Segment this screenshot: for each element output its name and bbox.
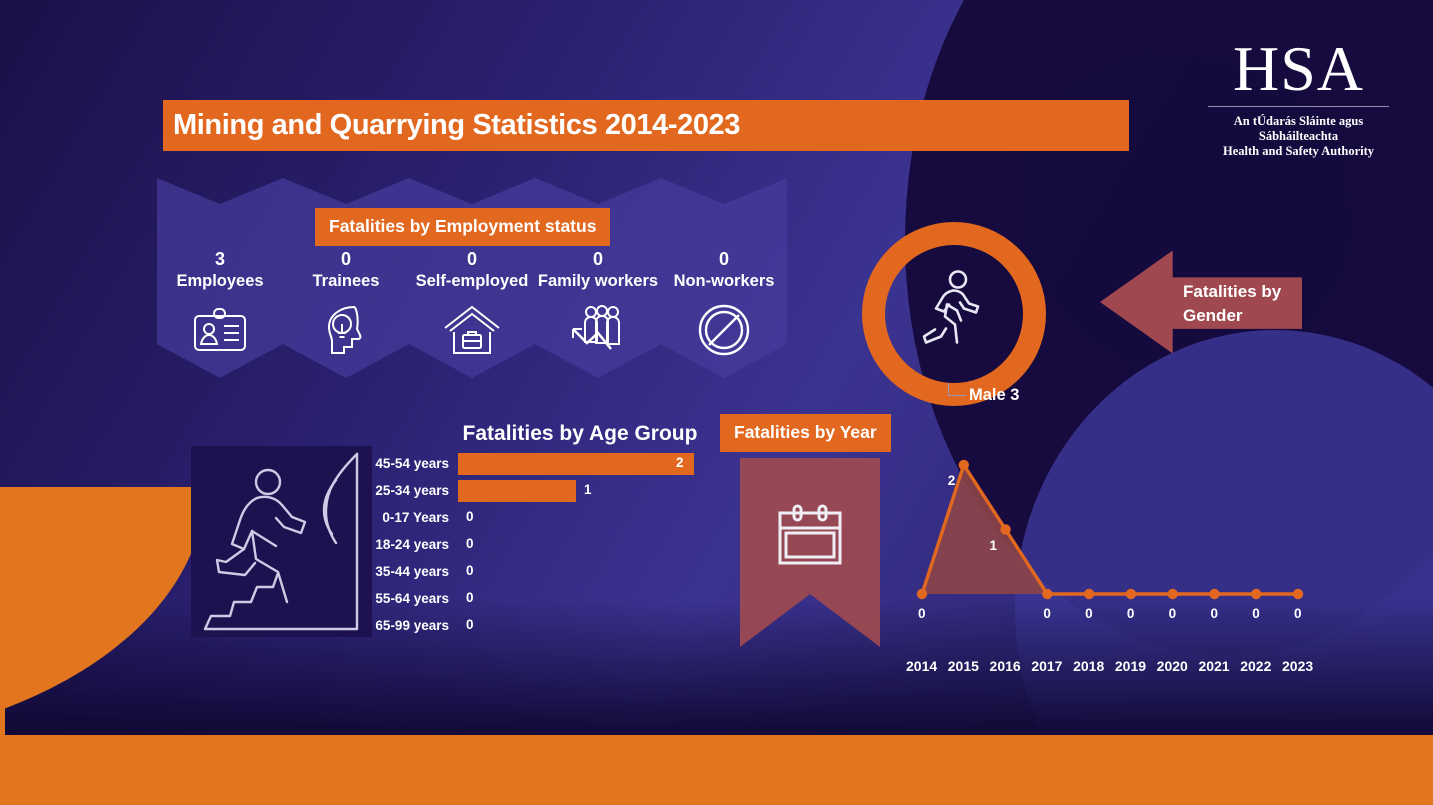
year-chart-point: [1000, 524, 1010, 534]
age-group-bar-zone: 0: [458, 561, 712, 583]
gender-callout-arrow: Fatalities by Gender: [1100, 246, 1302, 358]
age-group-bar-zone: 0: [458, 615, 712, 637]
age-group-category-label: 18-24 years: [372, 537, 458, 552]
employment-label: Employees: [157, 270, 283, 292]
year-chart-x-tick: 2016: [990, 658, 1021, 674]
logo-subtitle-english: Health and Safety Authority: [1196, 144, 1401, 159]
employment-item-family-workers: 0 Family workers: [535, 248, 661, 360]
employment-status-title: Fatalities by Employment status: [315, 208, 610, 246]
age-group-bar-zone: 0: [458, 534, 712, 556]
employment-value: 0: [409, 248, 535, 270]
age-group-row: 35-44 years0: [372, 558, 712, 585]
employment-label: Trainees: [283, 270, 409, 292]
running-person-icon: [917, 269, 991, 360]
year-chart-x-tick: 2019: [1115, 658, 1146, 674]
year-chart-x-tick: 2020: [1157, 658, 1188, 674]
bottom-orange-band: [0, 735, 1433, 805]
gender-callout-text: Fatalities by Gender: [1183, 280, 1298, 328]
house-briefcase-icon: [409, 300, 535, 360]
age-group-value-label: 1: [584, 482, 592, 497]
year-chart-value-label: 0: [918, 606, 926, 621]
employment-value: 0: [535, 248, 661, 270]
age-group-row: 18-24 years0: [372, 531, 712, 558]
age-group-category-label: 0-17 Years: [372, 510, 458, 525]
year-chart-value-label: 0: [1127, 606, 1135, 621]
age-group-value-label: 0: [466, 617, 474, 632]
year-chart-x-tick: 2017: [1031, 658, 1062, 674]
climbing-stairs-person-icon: [191, 446, 372, 637]
age-group-row: 25-34 years1: [372, 477, 712, 504]
year-chart-value-label: 0: [1169, 606, 1177, 621]
age-group-bar-chart: 45-54 years225-34 years10-17 Years018-24…: [372, 450, 712, 639]
year-chart-point: [1167, 589, 1177, 599]
logo-divider: [1208, 106, 1389, 107]
age-group-value-label: 0: [466, 563, 474, 578]
age-group-value-label: 0: [466, 590, 474, 605]
calendar-icon: [777, 504, 843, 571]
age-group-row: 0-17 Years0: [372, 504, 712, 531]
year-chart-x-tick: 2015: [948, 658, 979, 674]
age-group-bar-zone: 1: [458, 480, 712, 502]
gender-donut-label: Male 3: [969, 386, 1019, 405]
hsa-logo: HSA An tÚdarás Sláinte agus Sábháilteach…: [1196, 36, 1401, 159]
age-group-row: 65-99 years0: [372, 612, 712, 639]
age-group-category-label: 25-34 years: [372, 483, 458, 498]
year-chart-value-label: 1: [990, 538, 998, 553]
infographic-canvas: Mining and Quarrying Statistics 2014-202…: [0, 0, 1433, 805]
year-chart-x-tick: 2022: [1240, 658, 1271, 674]
year-chart-area: [922, 465, 1298, 594]
age-group-category-label: 55-64 years: [372, 591, 458, 606]
year-chart-value-label: 2: [948, 473, 956, 488]
year-chart-point: [1209, 589, 1219, 599]
year-line-chart: 0201422015120160201702018020190202002021…: [895, 448, 1325, 688]
age-group-row: 55-64 years0: [372, 585, 712, 612]
head-lightbulb-icon: [283, 300, 409, 360]
year-chart-point: [1293, 589, 1303, 599]
year-chart-point: [1042, 589, 1052, 599]
age-group-value-label: 0: [466, 509, 474, 524]
age-group-row: 45-54 years2: [372, 450, 712, 477]
age-group-value-label: 2: [676, 455, 684, 470]
employment-item-non-workers: 0 Non-workers: [661, 248, 787, 360]
year-chart-x-tick: 2018: [1073, 658, 1104, 674]
employment-label: Self-employed: [409, 270, 535, 292]
group-people-chart-icon: [535, 300, 661, 360]
age-group-category-label: 35-44 years: [372, 564, 458, 579]
employment-value: 3: [157, 248, 283, 270]
age-group-bar: [458, 453, 694, 475]
year-chart-x-tick: 2014: [906, 658, 937, 674]
year-chart-point: [1084, 589, 1094, 599]
gender-donut: [862, 222, 1046, 406]
age-group-bar-zone: 0: [458, 588, 712, 610]
employment-item-self-employed: 0 Self-employed: [409, 248, 535, 360]
year-chart-x-tick: 2023: [1282, 658, 1313, 674]
year-chart-svg: [895, 448, 1325, 688]
id-badge-icon: [157, 300, 283, 360]
logo-wordmark: HSA: [1196, 36, 1401, 102]
year-chart-value-label: 0: [1252, 606, 1260, 621]
age-group-bar: [458, 480, 576, 502]
prohibited-icon: [661, 300, 787, 360]
donut-leader-line: [948, 383, 966, 396]
employment-item-employees: 3 Employees: [157, 248, 283, 360]
year-section-title: Fatalities by Year: [720, 414, 891, 452]
bottom-orange-fill: [0, 487, 5, 747]
employment-value: 0: [661, 248, 787, 270]
logo-subtitle-irish: An tÚdarás Sláinte agus Sábháilteachta: [1196, 114, 1401, 144]
employment-label: Non-workers: [661, 270, 787, 292]
year-chart-point: [1251, 589, 1261, 599]
year-chart-value-label: 0: [1043, 606, 1051, 621]
employment-value: 0: [283, 248, 409, 270]
year-chart-x-tick: 2021: [1198, 658, 1229, 674]
year-chart-value-label: 0: [1210, 606, 1218, 621]
age-group-category-label: 65-99 years: [372, 618, 458, 633]
employment-label: Family workers: [535, 270, 661, 292]
year-chart-point: [917, 589, 927, 599]
year-chart-value-label: 0: [1294, 606, 1302, 621]
age-group-bar-zone: 0: [458, 507, 712, 529]
year-chart-point: [959, 460, 969, 470]
employment-item-trainees: 0 Trainees: [283, 248, 409, 360]
age-group-category-label: 45-54 years: [372, 456, 458, 471]
age-group-title: Fatalities by Age Group: [440, 422, 720, 446]
year-chart-value-label: 0: [1085, 606, 1093, 621]
gender-callout-line1: Fatalities by: [1183, 280, 1298, 304]
age-group-bar-zone: 2: [458, 453, 712, 475]
age-group-value-label: 0: [466, 536, 474, 551]
page-title-bar: Mining and Quarrying Statistics 2014-202…: [163, 100, 1129, 151]
gender-callout-line2: Gender: [1183, 304, 1298, 328]
employment-status-section: 3 Employees 0 Trainees: [157, 178, 797, 408]
page-title: Mining and Quarrying Statistics 2014-202…: [163, 109, 740, 142]
year-chart-point: [1126, 589, 1136, 599]
